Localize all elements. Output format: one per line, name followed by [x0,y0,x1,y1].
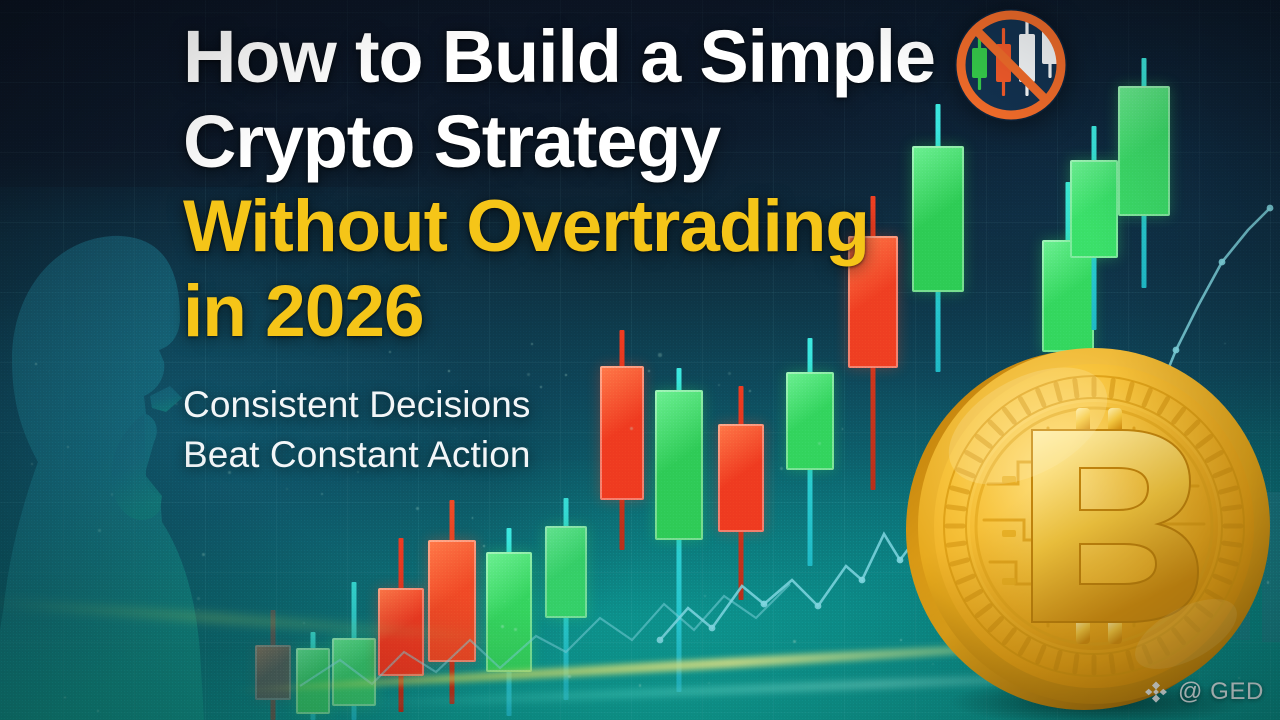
title-accent: Without Overtrading in 2026 [183,184,943,354]
particle [514,628,516,630]
badge-candle-wick-4 [1070,14,1073,64]
particle [286,488,288,490]
particle [197,597,200,600]
coin-rim-tick [1111,380,1113,396]
thumbnail-canvas: How to Build a Simple Crypto Strategy Wi… [0,0,1280,720]
badge-candle-body-0 [972,48,987,78]
bitcoin-coin [898,334,1280,720]
coin-rim-tick [948,507,964,509]
watermark: @ GED [1143,678,1264,706]
particle [321,493,323,495]
particle [97,710,99,712]
watermark-handle: @ GED [1178,678,1264,706]
title-line-1: How to Build a Simple [183,15,935,98]
title-primary: How to Build a Simple Crypto Strategy [183,14,943,184]
particle [198,609,199,610]
headline-block: How to Build a Simple Crypto Strategy Wi… [183,14,943,480]
no-overtrading-prohibition-icon [938,4,1084,130]
coin-rim-tick [1111,656,1113,672]
title-line-2: Crypto Strategy [183,99,943,184]
coin-rim-tick [1224,507,1240,509]
particle [303,622,305,624]
coin-rim-tick [1224,543,1240,545]
particle [639,684,642,687]
particle [528,599,529,600]
subtitle-line-1: Consistent Decisions [183,384,530,425]
particle [35,363,37,365]
binance-diamond-logo-icon [1143,679,1169,705]
particle [202,553,205,556]
accent-line-2: in 2026 [183,269,943,354]
particle [416,507,419,510]
particle [501,625,504,628]
accent-line-1: Without Overtrading [183,186,869,267]
particle [98,529,101,532]
coin-rim-tick [948,543,964,545]
badge-candle-body-4 [1064,22,1079,52]
particle [111,493,113,495]
subtitle-line-2: Beat Constant Action [183,430,943,480]
particle [568,675,570,677]
coin-rim-tick [1075,656,1077,672]
subtitle-block: Consistent Decisions Beat Constant Actio… [183,380,943,480]
